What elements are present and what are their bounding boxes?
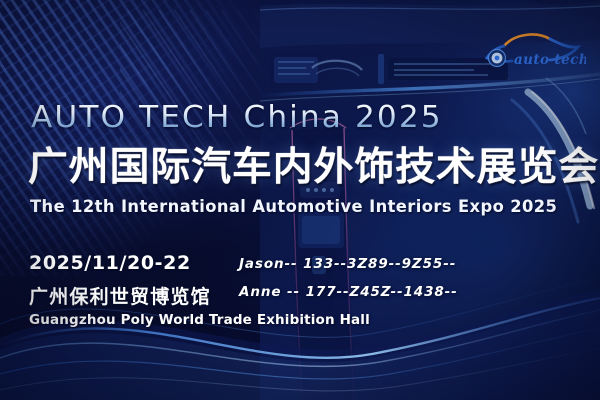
vignette-overlay bbox=[0, 0, 600, 400]
exhibition-poster: auto tech AUTO TECH China 2025 广州国际汽车内外饰… bbox=[0, 0, 600, 400]
